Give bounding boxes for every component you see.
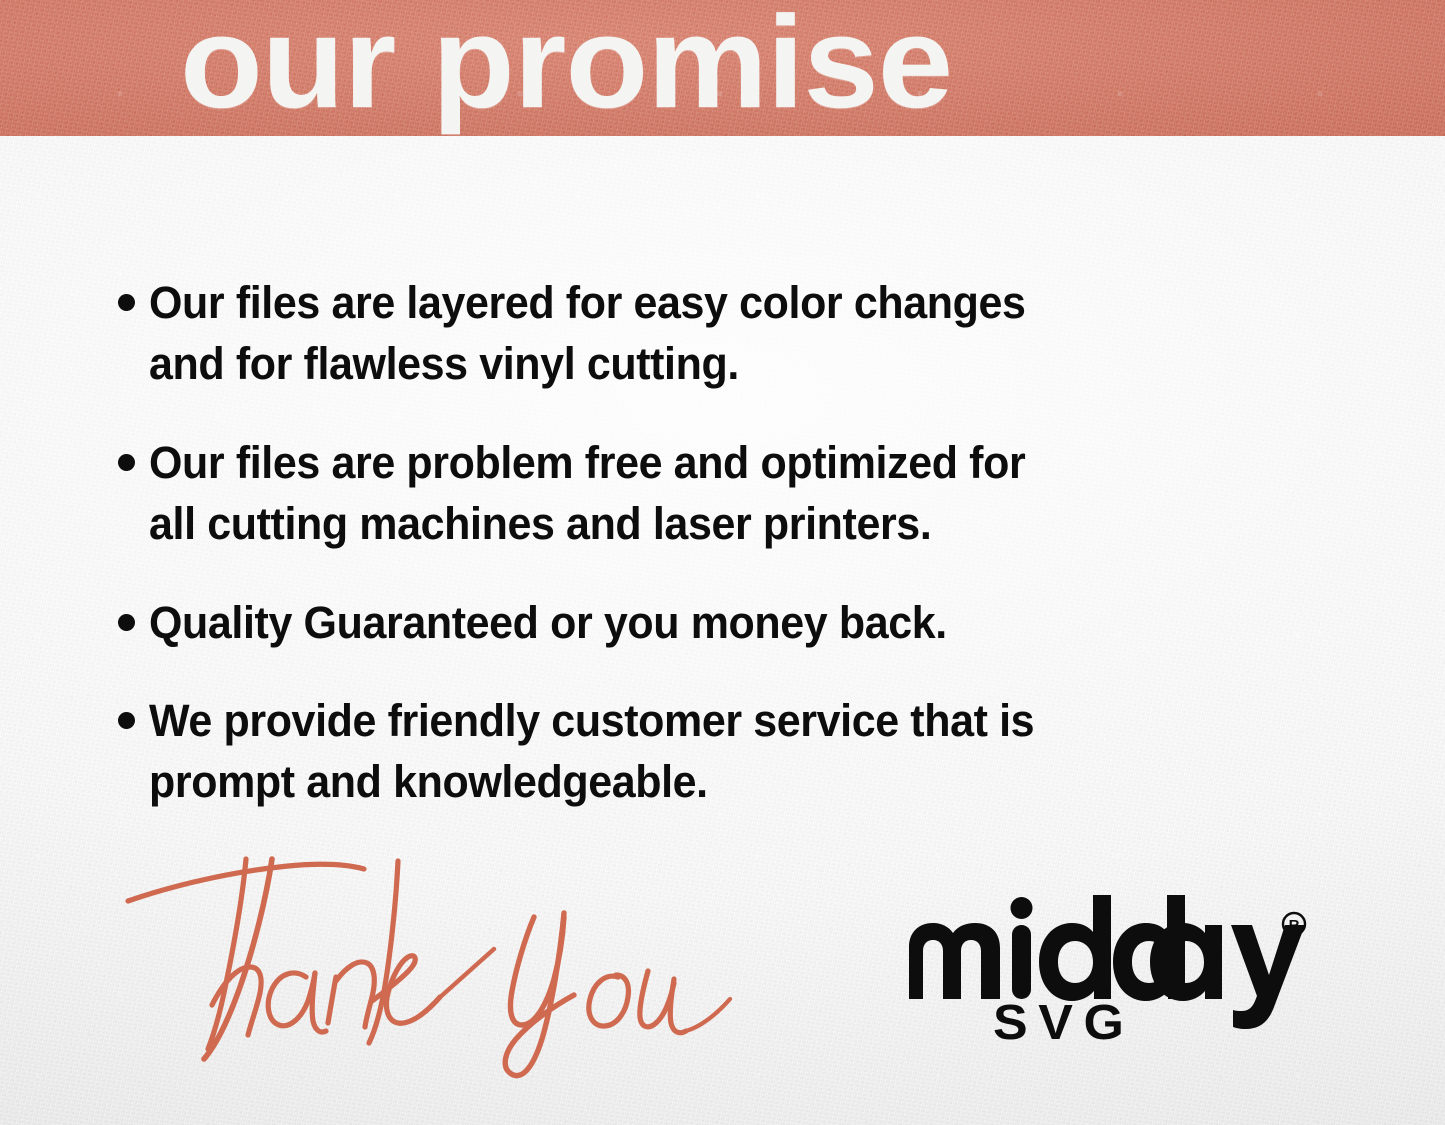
bullet-icon xyxy=(118,614,135,631)
thank-you-signature xyxy=(120,855,800,1080)
bullet-icon xyxy=(118,712,135,729)
list-item-label: Our files are layered for easy color cha… xyxy=(149,272,1026,394)
list-item: Our files are problem free and optimized… xyxy=(118,432,1067,554)
thank-you-script-icon xyxy=(120,855,800,1080)
bullet-icon xyxy=(118,454,135,471)
list-item-label: Quality Guaranteed or you money back. xyxy=(149,592,947,653)
header-title-wrap: our promise xyxy=(0,0,1445,200)
midday-wordmark-icon xyxy=(905,895,1305,1005)
brand-logo: R SVG xyxy=(905,895,1305,1060)
brand-subtitle: SVG xyxy=(993,997,1134,1049)
list-item-label: Our files are problem free and optimized… xyxy=(149,432,1025,554)
list-item: Quality Guaranteed or you money back. xyxy=(118,592,984,653)
promise-card: our promise Our files are layered for ea… xyxy=(0,0,1445,1125)
page-title: our promise xyxy=(180,0,952,130)
bullet-icon xyxy=(118,294,135,311)
list-item: Our files are layered for easy color cha… xyxy=(118,272,1067,394)
list-item: We provide friendly customer service tha… xyxy=(118,690,1076,812)
list-item-label: We provide friendly customer service tha… xyxy=(149,690,1034,812)
registered-mark-icon: R xyxy=(1281,911,1307,937)
brand-wordmark xyxy=(905,895,1305,1005)
svg-text:R: R xyxy=(1289,917,1300,934)
